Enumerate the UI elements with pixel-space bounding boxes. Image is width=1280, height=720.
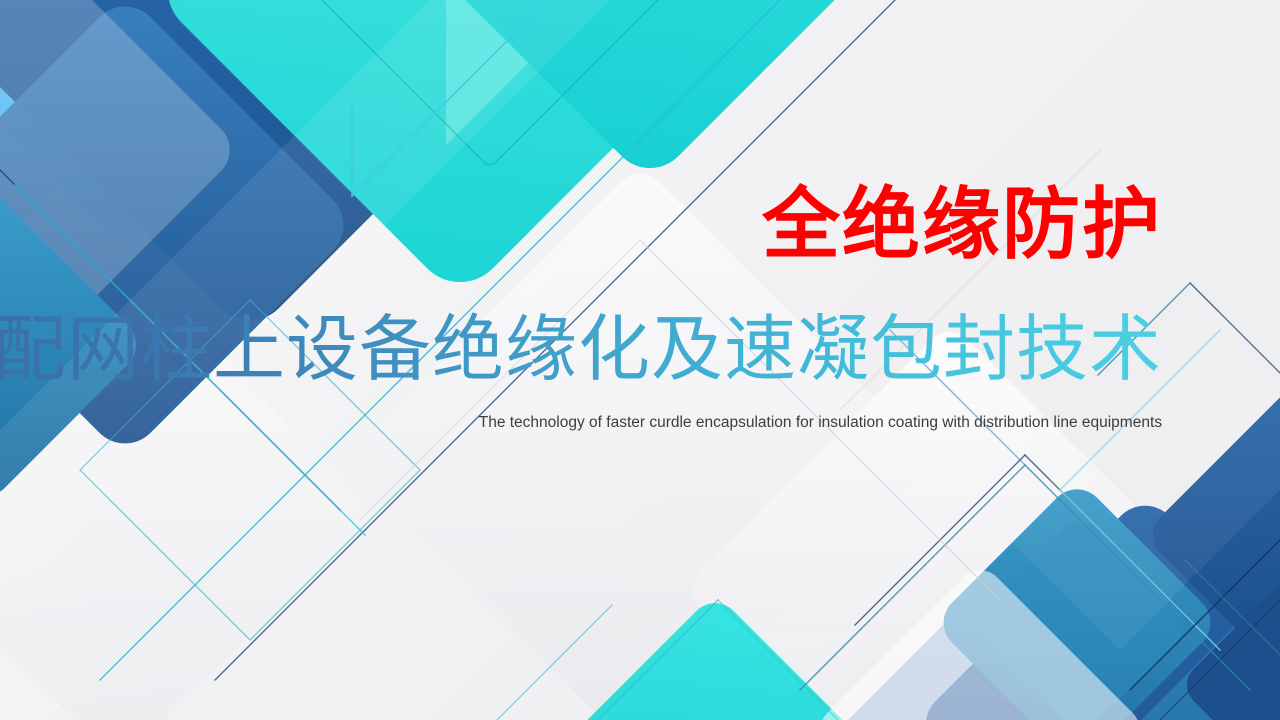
title-slide: 全绝缘防护 配网柱上设备绝缘化及速凝包封技术 The technology of…	[0, 0, 1280, 720]
subtitle-english: The technology of faster curdle encapsul…	[479, 412, 1162, 434]
headline-red: 全绝缘防护	[762, 186, 1162, 264]
headline-main-title: 配网柱上设备绝缘化及速凝包封技术	[0, 312, 1162, 388]
title-text-block: 全绝缘防护 配网柱上设备绝缘化及速凝包封技术 The technology of…	[0, 0, 1280, 720]
